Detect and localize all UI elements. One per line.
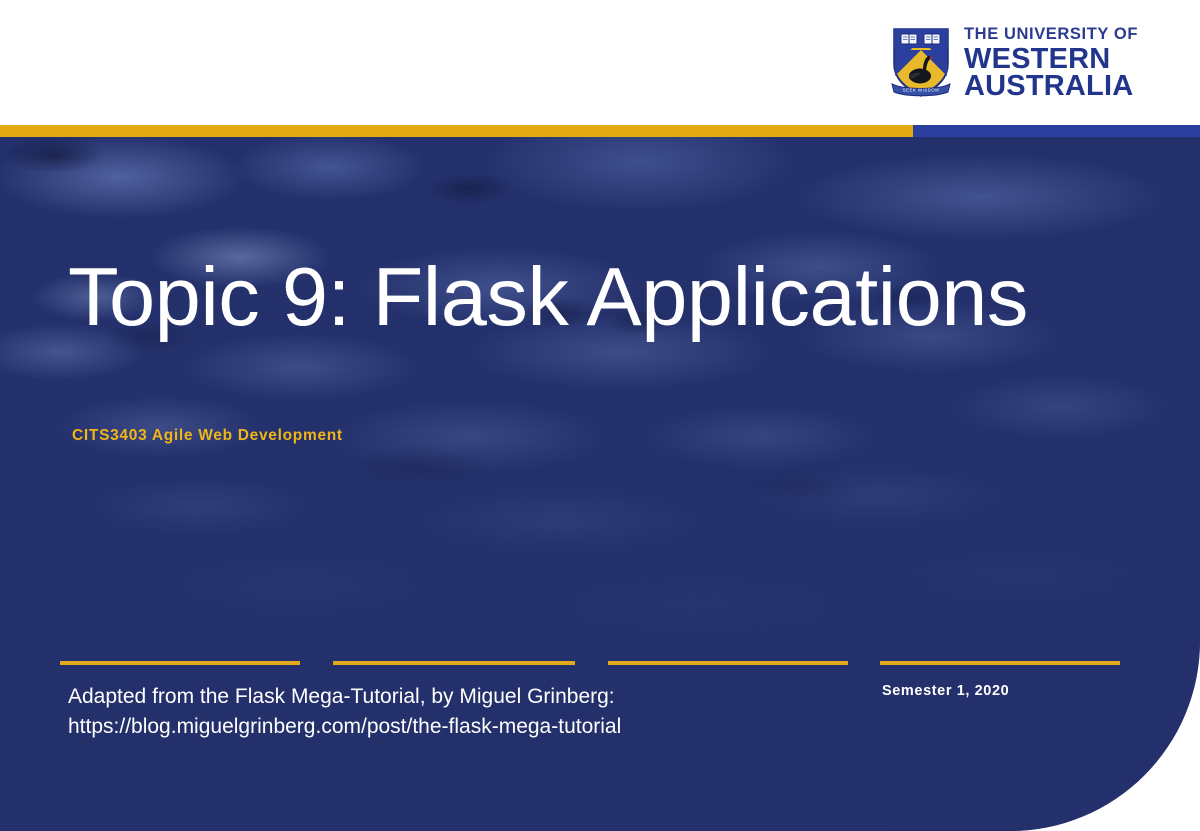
uwa-wordmark: THE UNIVERSITY OF WESTERN AUSTRALIA xyxy=(964,26,1138,101)
svg-text:SEEK WISDOM: SEEK WISDOM xyxy=(903,88,940,93)
gold-divider-1 xyxy=(60,661,300,665)
attribution-line-1: Adapted from the Flask Mega-Tutorial, by… xyxy=(68,682,768,712)
attribution-text: Adapted from the Flask Mega-Tutorial, by… xyxy=(68,682,768,742)
uwa-logo: SEEK WISDOM THE UNIVERSITY OF WESTERN AU… xyxy=(890,26,1138,101)
attribution-source-url: https://blog.miguelgrinberg.com/post/the… xyxy=(68,712,768,742)
gold-divider-4 xyxy=(880,661,1120,665)
gold-divider-2 xyxy=(333,661,575,665)
presentation-slide: SEEK WISDOM THE UNIVERSITY OF WESTERN AU… xyxy=(0,0,1200,831)
slide-hero-panel: Topic 9: Flask Applications CITS3403 Agi… xyxy=(0,137,1200,831)
uwa-crest-icon: SEEK WISDOM xyxy=(890,26,952,100)
course-code-label: CITS3403 Agile Web Development xyxy=(72,427,343,445)
slide-header-band: SEEK WISDOM THE UNIVERSITY OF WESTERN AU… xyxy=(0,0,1200,125)
page-title: Topic 9: Flask Applications xyxy=(68,253,1128,340)
header-gold-rule xyxy=(0,125,913,137)
logo-line-the-university-of: THE UNIVERSITY OF xyxy=(964,26,1138,43)
logo-line-australia: AUSTRALIA xyxy=(964,72,1138,101)
semester-label: Semester 1, 2020 xyxy=(882,683,1009,699)
gold-divider-3 xyxy=(608,661,848,665)
header-blue-rule xyxy=(913,125,1200,137)
